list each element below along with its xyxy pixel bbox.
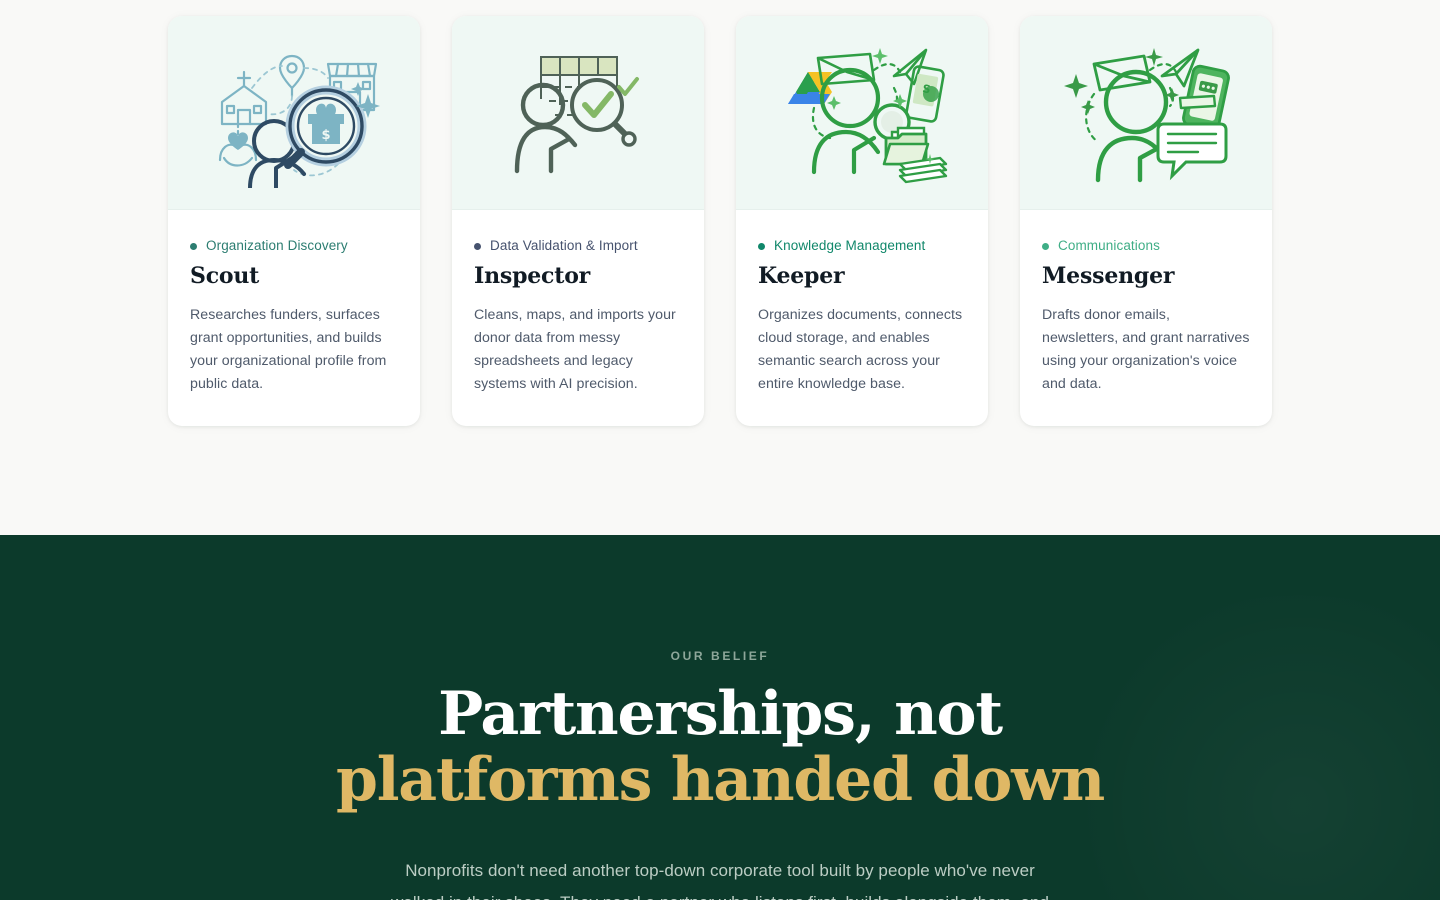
kicker-dot-icon xyxy=(190,243,197,250)
agent-card-keeper[interactable]: S xyxy=(736,16,988,426)
keeper-illustration: S xyxy=(736,16,988,210)
card-description: Drafts donor emails, newsletters, and gr… xyxy=(1042,304,1250,396)
card-kicker-label: Organization Discovery xyxy=(206,238,348,254)
agent-cards-row: $ Organization Discovery Scout Researche… xyxy=(168,16,1272,426)
card-title: Scout xyxy=(190,262,398,290)
heading-line-1: Partnerships, not xyxy=(438,679,1002,749)
heading-line-2: platforms handed down xyxy=(0,747,1440,813)
card-description: Cleans, maps, and imports your donor dat… xyxy=(474,304,682,396)
card-body: Knowledge Management Keeper Organizes do… xyxy=(736,210,988,426)
kicker-dot-icon xyxy=(758,243,765,250)
card-title: Keeper xyxy=(758,262,966,290)
messenger-illustration xyxy=(1020,16,1272,210)
agent-card-scout[interactable]: $ Organization Discovery Scout Researche… xyxy=(168,16,420,426)
card-body: Data Validation & Import Inspector Clean… xyxy=(452,210,704,426)
agent-card-messenger[interactable]: Communications Messenger Drafts donor em… xyxy=(1020,16,1272,426)
our-belief-section: OUR BELIEF Partnerships, not platforms h… xyxy=(0,535,1440,900)
belief-content: OUR BELIEF Partnerships, not platforms h… xyxy=(0,535,1440,900)
card-kicker: Communications xyxy=(1042,238,1250,254)
card-description: Organizes documents, connects cloud stor… xyxy=(758,304,966,396)
agent-cards-section: $ Organization Discovery Scout Researche… xyxy=(0,0,1440,535)
card-kicker: Organization Discovery xyxy=(190,238,398,254)
card-kicker-label: Data Validation & Import xyxy=(490,238,638,254)
agent-card-inspector[interactable]: Data Validation & Import Inspector Clean… xyxy=(452,16,704,426)
section-eyebrow: OUR BELIEF xyxy=(0,649,1440,663)
scout-illustration: $ xyxy=(168,16,420,210)
page-title: Partnerships, not platforms handed down xyxy=(0,681,1440,813)
card-kicker: Data Validation & Import xyxy=(474,238,682,254)
svg-text:$: $ xyxy=(321,128,330,143)
belief-paragraph: Nonprofits don't need another top-down c… xyxy=(380,855,1060,900)
kicker-dot-icon xyxy=(1042,243,1049,250)
card-kicker-label: Communications xyxy=(1058,238,1160,254)
card-body: Organization Discovery Scout Researches … xyxy=(168,210,420,426)
card-description: Researches funders, surfaces grant oppor… xyxy=(190,304,398,396)
kicker-dot-icon xyxy=(474,243,481,250)
card-title: Messenger xyxy=(1042,262,1250,290)
inspector-illustration xyxy=(452,16,704,210)
card-kicker: Knowledge Management xyxy=(758,238,966,254)
card-title: Inspector xyxy=(474,262,682,290)
card-kicker-label: Knowledge Management xyxy=(774,238,925,254)
card-body: Communications Messenger Drafts donor em… xyxy=(1020,210,1272,426)
